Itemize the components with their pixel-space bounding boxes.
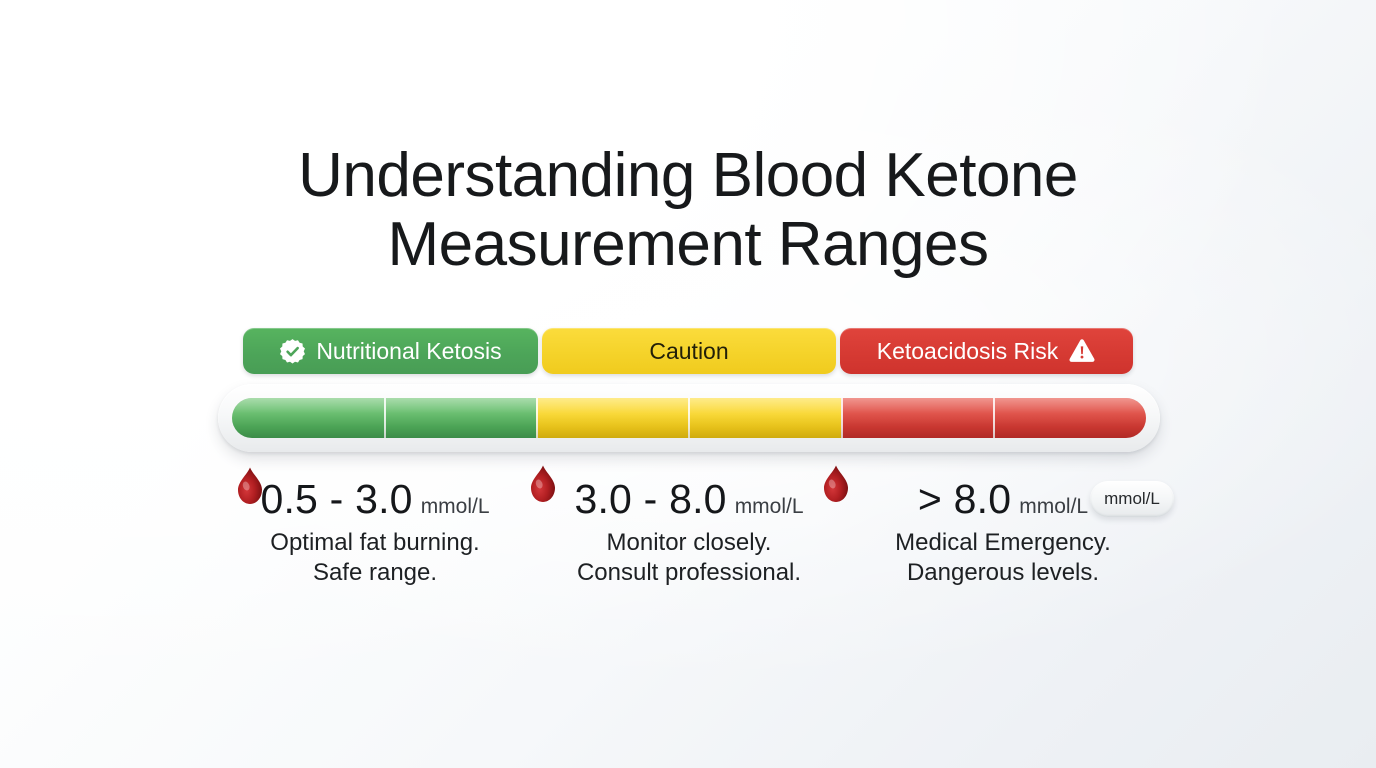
- reading-value-row: 0.5 - 3.0 mmol/L: [218, 470, 532, 528]
- legend-chip-nutritional-ketosis[interactable]: Nutritional Ketosis: [243, 328, 538, 374]
- unit-badge: mmol/L: [1090, 481, 1174, 517]
- reading-description: Medical Emergency. Dangerous levels.: [846, 528, 1160, 588]
- reading-description-line-2: Safe range.: [218, 558, 532, 588]
- reading-value: 3.0 - 8.0: [574, 470, 726, 528]
- gauge-segment-yellow-1: [536, 398, 688, 438]
- reading-value: > 8.0: [918, 470, 1011, 528]
- reading-value-row: 3.0 - 8.0 mmol/L: [532, 470, 846, 528]
- reading-description: Monitor closely. Consult professional.: [532, 528, 846, 588]
- verified-badge-icon: [279, 338, 306, 365]
- gauge-segment-red-1: [841, 398, 994, 438]
- gauge-segment-green-2: [384, 398, 537, 438]
- legend-chip-label: Ketoacidosis Risk: [877, 338, 1059, 365]
- legend-chip-label: Caution: [649, 338, 728, 365]
- page-title: Understanding Blood Ketone Measurement R…: [0, 145, 1376, 276]
- warning-triangle-icon: [1068, 338, 1096, 364]
- reading-value: 0.5 - 3.0: [260, 470, 412, 528]
- reading-description-line-2: Consult professional.: [532, 558, 846, 588]
- gauge-segment-red-2: [993, 398, 1146, 438]
- legend-chip-ketoacidosis-risk[interactable]: Ketoacidosis Risk: [840, 328, 1133, 374]
- reading-description-line-2: Dangerous levels.: [846, 558, 1160, 588]
- reading-nutritional-ketosis: 0.5 - 3.0 mmol/L Optimal fat burning. Sa…: [218, 470, 532, 588]
- gauge-segment-yellow-2: [688, 398, 841, 438]
- legend-chip-caution[interactable]: Caution: [542, 328, 836, 374]
- reading-description: Optimal fat burning. Safe range.: [218, 528, 532, 588]
- reading-description-line-1: Medical Emergency.: [846, 528, 1160, 558]
- reading-caution: 3.0 - 8.0 mmol/L Monitor closely. Consul…: [532, 470, 846, 588]
- infographic-canvas: Understanding Blood Ketone Measurement R…: [0, 0, 1376, 768]
- page-title-line-2: Measurement Ranges: [0, 214, 1376, 276]
- legend-chips-row: Nutritional Ketosis Caution Ketoacidosis…: [243, 328, 1133, 374]
- unit-badge-label: mmol/L: [1104, 489, 1160, 509]
- legend-chip-label: Nutritional Ketosis: [316, 338, 501, 365]
- page-title-line-1: Understanding Blood Ketone: [0, 145, 1376, 207]
- ketone-gauge-bar[interactable]: [218, 384, 1160, 452]
- gauge-track: [232, 398, 1146, 438]
- readings-row: 0.5 - 3.0 mmol/L Optimal fat burning. Sa…: [218, 470, 1160, 600]
- gauge-segment-green-1: [232, 398, 384, 438]
